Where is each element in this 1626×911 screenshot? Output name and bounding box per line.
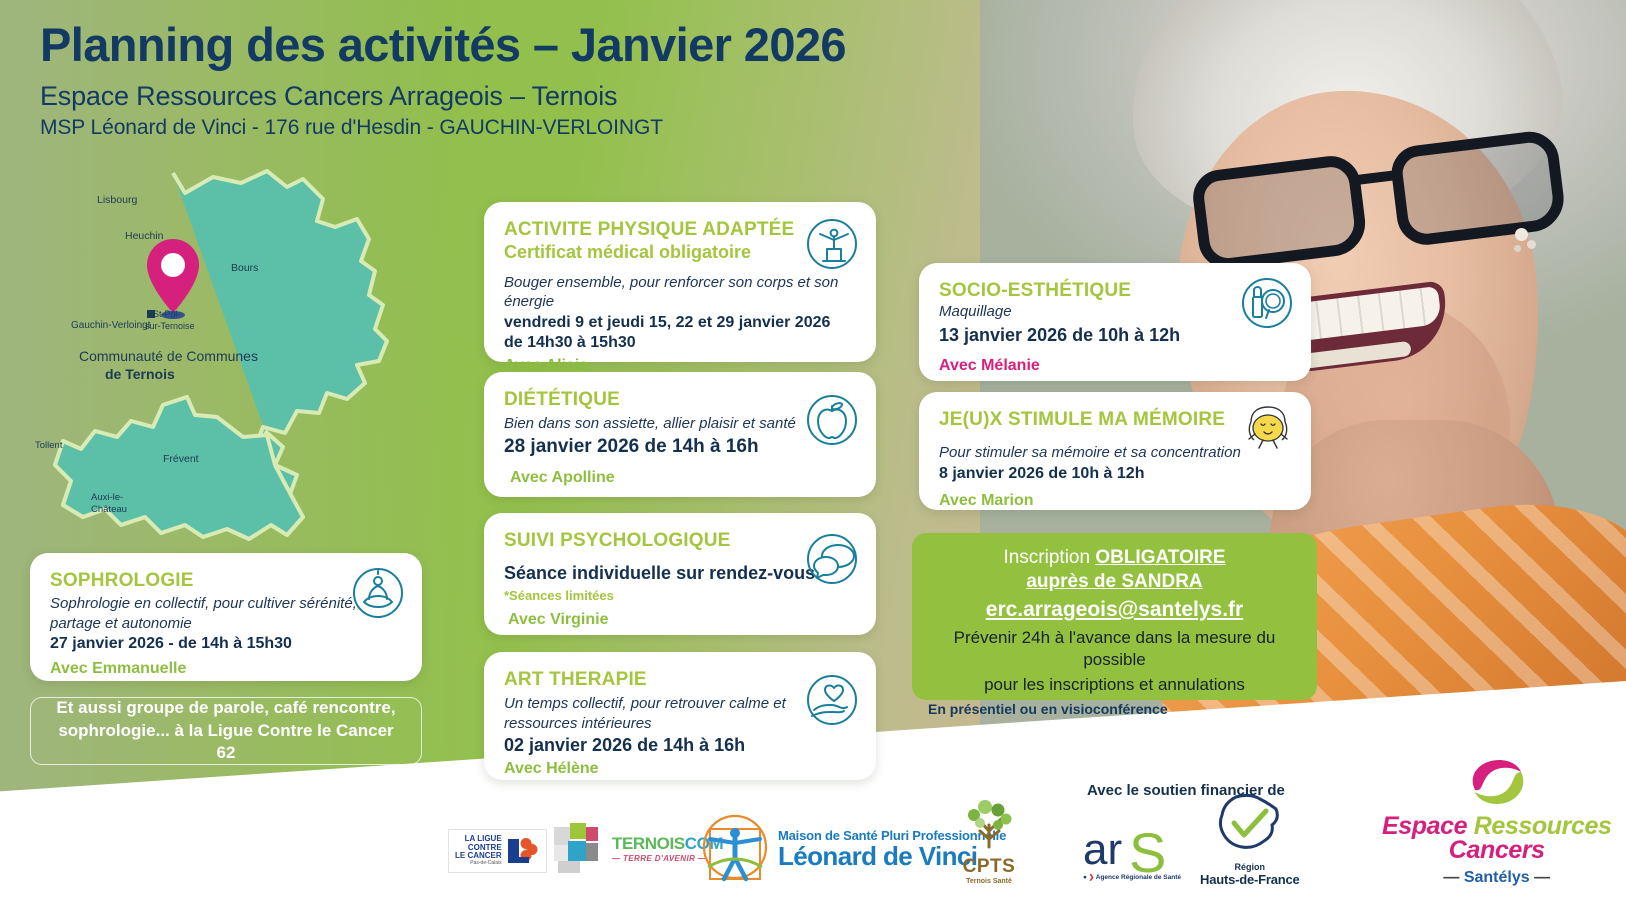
card-title: SUIVI PSYCHOLOGIQUE	[504, 529, 856, 552]
apple-icon	[806, 394, 858, 446]
inscription-email-link[interactable]: erc.arrageois@santelys.fr	[928, 596, 1301, 624]
card-note: *Séances limitées	[504, 588, 856, 603]
map-label-region-line2: de Ternois	[105, 366, 175, 382]
card-date: 27 janvier 2026 - de 14h à 15h30	[50, 634, 402, 655]
card-description: Maquillage	[939, 302, 1291, 322]
card-description: Sophrologie en collectif, pour cultiver …	[50, 594, 402, 633]
map-label-tollent: Tollent	[35, 440, 63, 451]
map-pin-icon	[147, 239, 199, 319]
inscription-notice-2: pour les inscriptions et annulations	[928, 674, 1301, 696]
cpts-name: CPTS	[958, 856, 1020, 878]
ternoiscom-map-icon	[548, 819, 606, 877]
poster-root: Planning des activités – Janvier 2026 Es…	[0, 0, 1626, 911]
map-label-bours: Bours	[231, 262, 258, 274]
ars-wordmark-icon: ar S	[1083, 820, 1183, 878]
card-title: ART THERAPIE	[504, 668, 856, 691]
cpts-sub: Ternois Santé	[958, 878, 1020, 885]
brain-character-icon	[1239, 402, 1297, 460]
lipstick-mirror-icon	[1241, 277, 1293, 329]
page-subtitle: Espace Ressources Cancers Arrageois – Te…	[40, 81, 1000, 112]
inscription-notice-1: Prévenir 24h à l'avance dans la mesure d…	[928, 627, 1301, 671]
card-date: 28 janvier 2026 de 14h à 16h	[504, 435, 856, 460]
svg-text:S: S	[1129, 821, 1166, 878]
ligue-sub: Pas-de-Calais	[455, 861, 502, 867]
card-facilitator: Avec Virginie	[508, 611, 856, 629]
ars-subtitle-text: Agence Régionale de Santé	[1096, 874, 1181, 881]
card-date: 8 janvier 2026 de 10h à 12h	[939, 464, 1291, 485]
card-dietetique[interactable]: DIÉTÉTIQUE Bien dans son assiette, allie…	[484, 372, 876, 497]
inscription-line-1: Inscription OBLIGATOIRE	[928, 546, 1301, 570]
santelys-dash-left: —	[1443, 869, 1463, 886]
card-facilitator: Avec Marion	[939, 492, 1291, 510]
card-date: vendredi 9 et jeudi 15, 22 et 29 janvier…	[504, 313, 834, 355]
ternoiscom-name-a: TERNOIS	[612, 834, 685, 853]
card-subtitle: Certificat médical obligatoire	[504, 241, 856, 264]
page-title: Planning des activités – Janvier 2026	[40, 18, 1000, 72]
ars-subtitle: ● ❯ Agence Régionale de Santé	[1083, 873, 1183, 881]
card-facilitator: Avec Mélanie	[939, 357, 1291, 375]
map-label-stpol-2: sur-Ternoise	[145, 321, 195, 331]
map-ternois: Lisbourg Heuchin Bours St-Pol- sur-Terno…	[35, 165, 415, 545]
card-socio-esthetique[interactable]: SOCIO-ESTHÉTIQUE Maquillage 13 janvier 2…	[919, 263, 1311, 381]
map-svg: Lisbourg Heuchin Bours St-Pol- sur-Terno…	[35, 165, 415, 545]
page-address: MSP Léonard de Vinci - 176 rue d'Hesdin …	[40, 116, 1000, 140]
map-marker-square	[147, 310, 155, 318]
map-label-gauchin-verloingt: Gauchin-Verloingt	[71, 320, 151, 331]
card-jeux-memoire[interactable]: JE(U)X STIMULE MA MÉMOIRE Pour stimuler …	[919, 392, 1311, 510]
map-label-region-line1: Communauté de Communes	[79, 348, 258, 364]
lotus-meditation-icon	[352, 567, 404, 619]
logo-cpts: CPTS Ternois Santé	[958, 797, 1020, 885]
map-label-auxi-1: Auxi-le-	[91, 492, 123, 503]
santelys-logo: — Santélys —	[1382, 869, 1611, 887]
card-sophrologie[interactable]: SOPHROLOGIE Sophrologie en collectif, po…	[30, 553, 422, 681]
card-title: DIÉTÉTIQUE	[504, 388, 856, 411]
card-title: ACTIVITE PHYSIQUE ADAPTÉE	[504, 218, 856, 241]
region-line-2: Hauts-de-France	[1200, 872, 1300, 887]
card-headline: Séance individuelle sur rendez-vous	[504, 562, 856, 585]
person-exercise-icon	[806, 218, 858, 270]
map-label-auxi-2: Château	[91, 504, 127, 515]
map-label-heuchin: Heuchin	[125, 230, 164, 242]
logo-espace-ressources-cancers: Espace Ressources Cancers — Santélys —	[1382, 756, 1611, 887]
footer-logos: LA LIGUE CONTRE LE CANCER Pas-de-Calais	[0, 711, 1626, 911]
card-title: SOPHROLOGIE	[50, 569, 402, 592]
card-facilitator: Avec Apolline	[510, 469, 856, 487]
card-facilitator: Avec Emmanuelle	[50, 660, 402, 678]
svg-text:ar: ar	[1083, 825, 1122, 874]
vitruvian-man-icon	[700, 813, 770, 885]
logo-ligue-contre-le-cancer: LA LIGUE CONTRE LE CANCER Pas-de-Calais	[448, 829, 547, 873]
santelys-name: Santélys	[1464, 869, 1530, 886]
card-suivi-psychologique[interactable]: SUIVI PSYCHOLOGIQUE Séance individuelle …	[484, 513, 876, 635]
card-title: SOCIO-ESTHÉTIQUE	[939, 279, 1291, 302]
card-activite-physique[interactable]: ACTIVITE PHYSIQUE ADAPTÉE Certificat méd…	[484, 202, 876, 362]
santelys-dash-right: —	[1530, 869, 1550, 886]
inscription-obligatoire: OBLIGATOIRE	[1095, 547, 1225, 568]
inscription-box: Inscription OBLIGATOIRE auprès de SANDRA…	[912, 533, 1317, 700]
ligue-mark-icon	[506, 836, 540, 866]
logo-region-hauts-de-france: Région Hauts-de-France	[1200, 791, 1300, 887]
inscription-contact: auprès de SANDRA	[928, 570, 1301, 595]
speech-bubbles-icon	[806, 533, 858, 585]
cpts-tree-icon	[958, 797, 1020, 851]
card-date: 13 janvier 2026 de 10h à 12h	[939, 324, 1291, 347]
logo-ars: ar S ● ❯ Agence Régionale de Santé	[1083, 820, 1183, 881]
header: Planning des activités – Janvier 2026 Es…	[40, 18, 1000, 140]
card-description: Bien dans son assiette, allier plaisir e…	[504, 414, 856, 434]
erc-swirl-icon	[1437, 756, 1557, 812]
region-line-1: Région	[1200, 862, 1300, 872]
map-label-lisbourg: Lisbourg	[97, 194, 137, 206]
card-description: Bouger ensemble, pour renforcer son corp…	[504, 273, 856, 312]
erc-l1-a: E	[1382, 812, 1398, 840]
map-label-frevent: Frévent	[163, 453, 199, 465]
inscription-prefix: Inscription	[1003, 547, 1095, 568]
logo-ternoiscom: TERNOISCOM — TERRE D'AVENIR —	[548, 819, 723, 877]
hexagone-france-icon	[1214, 791, 1286, 857]
